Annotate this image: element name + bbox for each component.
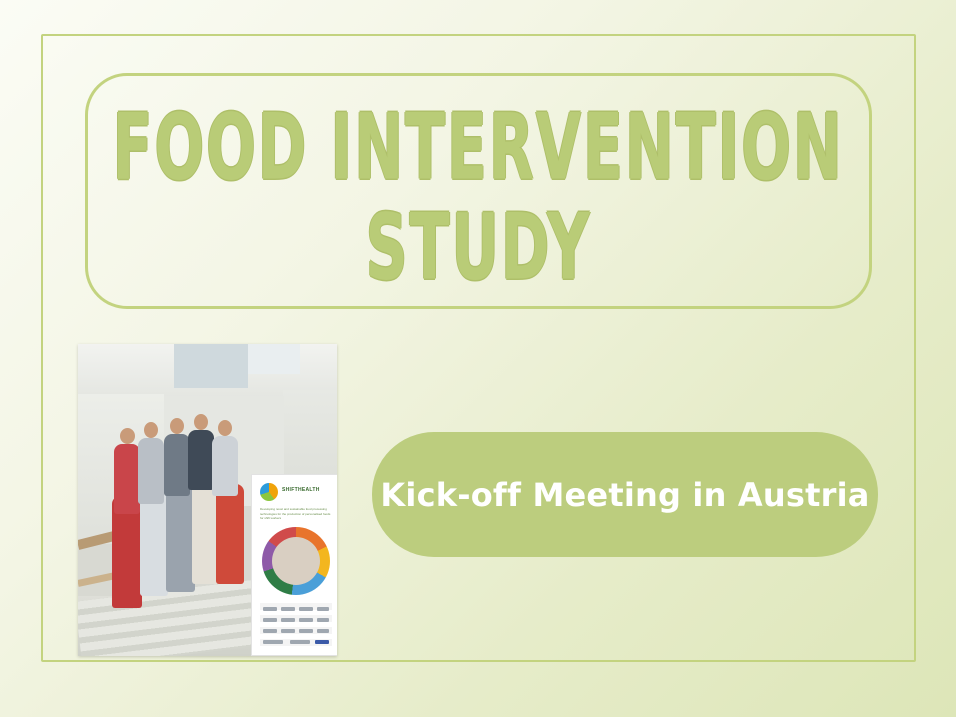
photo-person bbox=[212, 436, 238, 496]
rollup-banner: SHIFTHEALTH Developing novel and sustain… bbox=[251, 474, 337, 656]
photo-person bbox=[216, 484, 244, 584]
photo-person-head bbox=[194, 414, 208, 430]
title-line-secondary: STUDY bbox=[366, 206, 592, 290]
photo-person-head bbox=[218, 420, 232, 436]
photo-person bbox=[138, 438, 164, 504]
banner-partner-logos bbox=[260, 603, 332, 649]
photo-person bbox=[164, 434, 190, 496]
slide-canvas: FOOD INTERVENTION STUDY bbox=[0, 0, 956, 717]
photo-person bbox=[188, 430, 214, 490]
photo-person bbox=[140, 490, 168, 596]
photo-person-head bbox=[170, 418, 184, 434]
photo-skylight bbox=[174, 344, 248, 388]
photo-person-head bbox=[144, 422, 158, 438]
title-container: FOOD INTERVENTION STUDY bbox=[85, 73, 872, 309]
banner-body-text: Developing novel and sustainable food pr… bbox=[260, 507, 332, 521]
subtitle-text: Kick-off Meeting in Austria bbox=[380, 476, 869, 514]
banner-circle-inner bbox=[272, 537, 320, 585]
subtitle-container: Kick-off Meeting in Austria bbox=[372, 432, 878, 557]
team-photo: SHIFTHEALTH Developing novel and sustain… bbox=[78, 344, 337, 656]
title-line-primary: FOOD INTERVENTION bbox=[113, 106, 844, 190]
photo-person bbox=[114, 444, 140, 514]
photo-person-head bbox=[120, 428, 135, 444]
shifthealth-logo-icon bbox=[260, 483, 278, 501]
photo-person bbox=[166, 484, 195, 592]
photo-skylight-secondary bbox=[248, 344, 300, 374]
banner-brand: SHIFTHEALTH bbox=[282, 487, 320, 493]
